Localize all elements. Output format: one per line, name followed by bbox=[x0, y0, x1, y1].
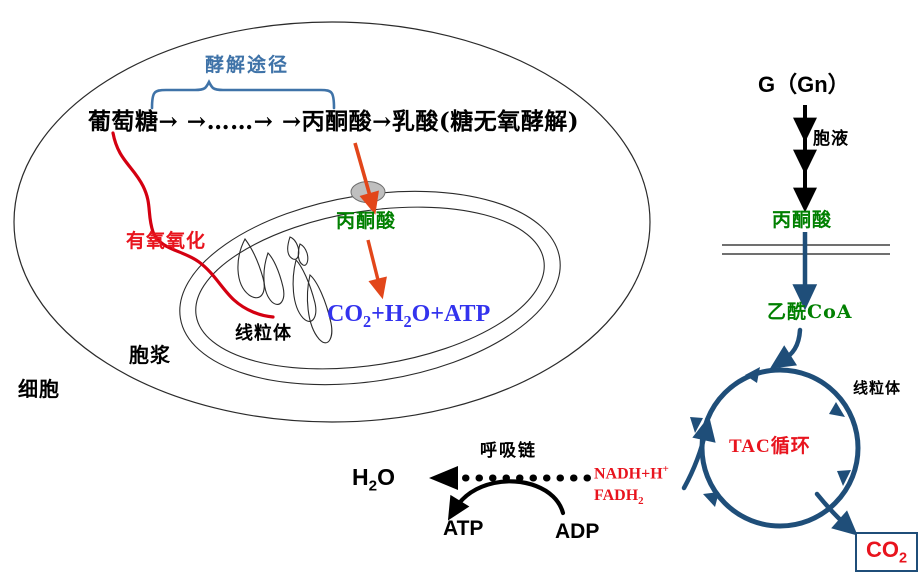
glycolysis-brace-label: 酵解途径 bbox=[205, 56, 289, 75]
adp-label: ADP bbox=[555, 521, 599, 542]
aerobic-oxidation-path bbox=[113, 133, 273, 317]
reducing-equivalents-label: NADH+H+ FADH2 bbox=[594, 462, 669, 509]
products-co2-sub: 2 bbox=[363, 312, 371, 331]
glucose-label: 葡萄糖 bbox=[88, 108, 159, 135]
cycle-to-reducing-equivalents-arrow bbox=[684, 430, 706, 488]
pyruvate-label-cytosol: 丙酮酸 bbox=[302, 108, 373, 135]
mitochondrion-outline bbox=[166, 166, 574, 410]
co2-output-box: CO2 bbox=[855, 532, 918, 572]
cell-label: 细胞 bbox=[18, 379, 60, 399]
cell-outline bbox=[14, 22, 650, 422]
diagram-canvas: 酵解途径 葡萄糖→ →……→ →丙酮酸→乳酸(糖无氧酵解) 有氧氧化 丙酮酸 C… bbox=[0, 0, 922, 574]
cycle-to-co2-arrow bbox=[817, 494, 847, 526]
nadh-label: NADH+H+ bbox=[594, 462, 669, 485]
cytosol-label: 胞液 bbox=[813, 131, 849, 148]
water-o: O bbox=[377, 464, 395, 490]
pyruvate-transporter-port bbox=[351, 182, 385, 203]
glycolysis-brace bbox=[152, 82, 334, 108]
nadh-sup: + bbox=[663, 463, 669, 475]
nadh-text: NADH+H bbox=[594, 465, 663, 482]
products-atp: +ATP bbox=[430, 301, 490, 327]
pyruvate-label-mitochondrion: 丙酮酸 bbox=[336, 212, 396, 231]
water-sub: 2 bbox=[369, 478, 377, 495]
fadh-text: FADH bbox=[594, 487, 638, 504]
products-h2o-sub: 2 bbox=[404, 312, 412, 331]
anaerobic-note: (糖无氧酵解) bbox=[439, 108, 579, 135]
co2-output-sub: 2 bbox=[899, 550, 907, 566]
glycolysis-ellipsis: …… bbox=[207, 108, 254, 135]
co2-output-text: CO bbox=[866, 537, 899, 562]
aerobic-oxidation-label: 有氧氧化 bbox=[126, 232, 206, 251]
water-h: H bbox=[352, 464, 369, 490]
products-h2o-rest: O bbox=[412, 301, 431, 327]
co2-output-label: CO2 bbox=[866, 537, 907, 562]
acetylcoa-into-cycle-arrow bbox=[782, 330, 800, 361]
lactate-label: 乳酸 bbox=[392, 108, 439, 135]
products-h2o: +H bbox=[371, 301, 403, 327]
glycolysis-arrow-3: → bbox=[372, 108, 392, 135]
water-output-label: H2O bbox=[352, 466, 395, 494]
glycolysis-arrows-2: → → bbox=[254, 108, 302, 135]
oxidation-products-arrow bbox=[368, 240, 380, 288]
fadh-sub: 2 bbox=[638, 495, 643, 507]
glycolysis-equation: 葡萄糖→ →……→ →丙酮酸→乳酸(糖无氧酵解) bbox=[88, 110, 579, 133]
mitochondrial-double-membrane bbox=[722, 245, 890, 254]
cytoplasm-label: 胞浆 bbox=[129, 345, 171, 365]
adp-to-atp-arrow bbox=[455, 481, 563, 513]
products-co2: CO bbox=[327, 301, 363, 327]
mitochondria-label-right: 线粒体 bbox=[853, 381, 901, 396]
glycolysis-arrows-1: → → bbox=[159, 108, 207, 135]
glucose-glycogen-label: G（Gn） bbox=[758, 74, 850, 96]
pyruvate-entry-arrow bbox=[355, 143, 372, 203]
oxidation-products-label: CO2+H2O+ATP bbox=[327, 302, 490, 330]
tac-cycle-label: TAC循环 bbox=[729, 437, 811, 456]
acetyl-coa-label: 乙酰CoA bbox=[767, 303, 853, 322]
fadh2-label: FADH2 bbox=[594, 485, 669, 509]
mitochondria-label-left: 线粒体 bbox=[235, 325, 292, 343]
respiratory-chain-label: 呼吸链 bbox=[480, 443, 537, 460]
respiratory-chain-dotted-line bbox=[429, 466, 594, 490]
pyruvate-label-right: 丙酮酸 bbox=[772, 211, 832, 230]
atp-label: ATP bbox=[443, 518, 483, 539]
